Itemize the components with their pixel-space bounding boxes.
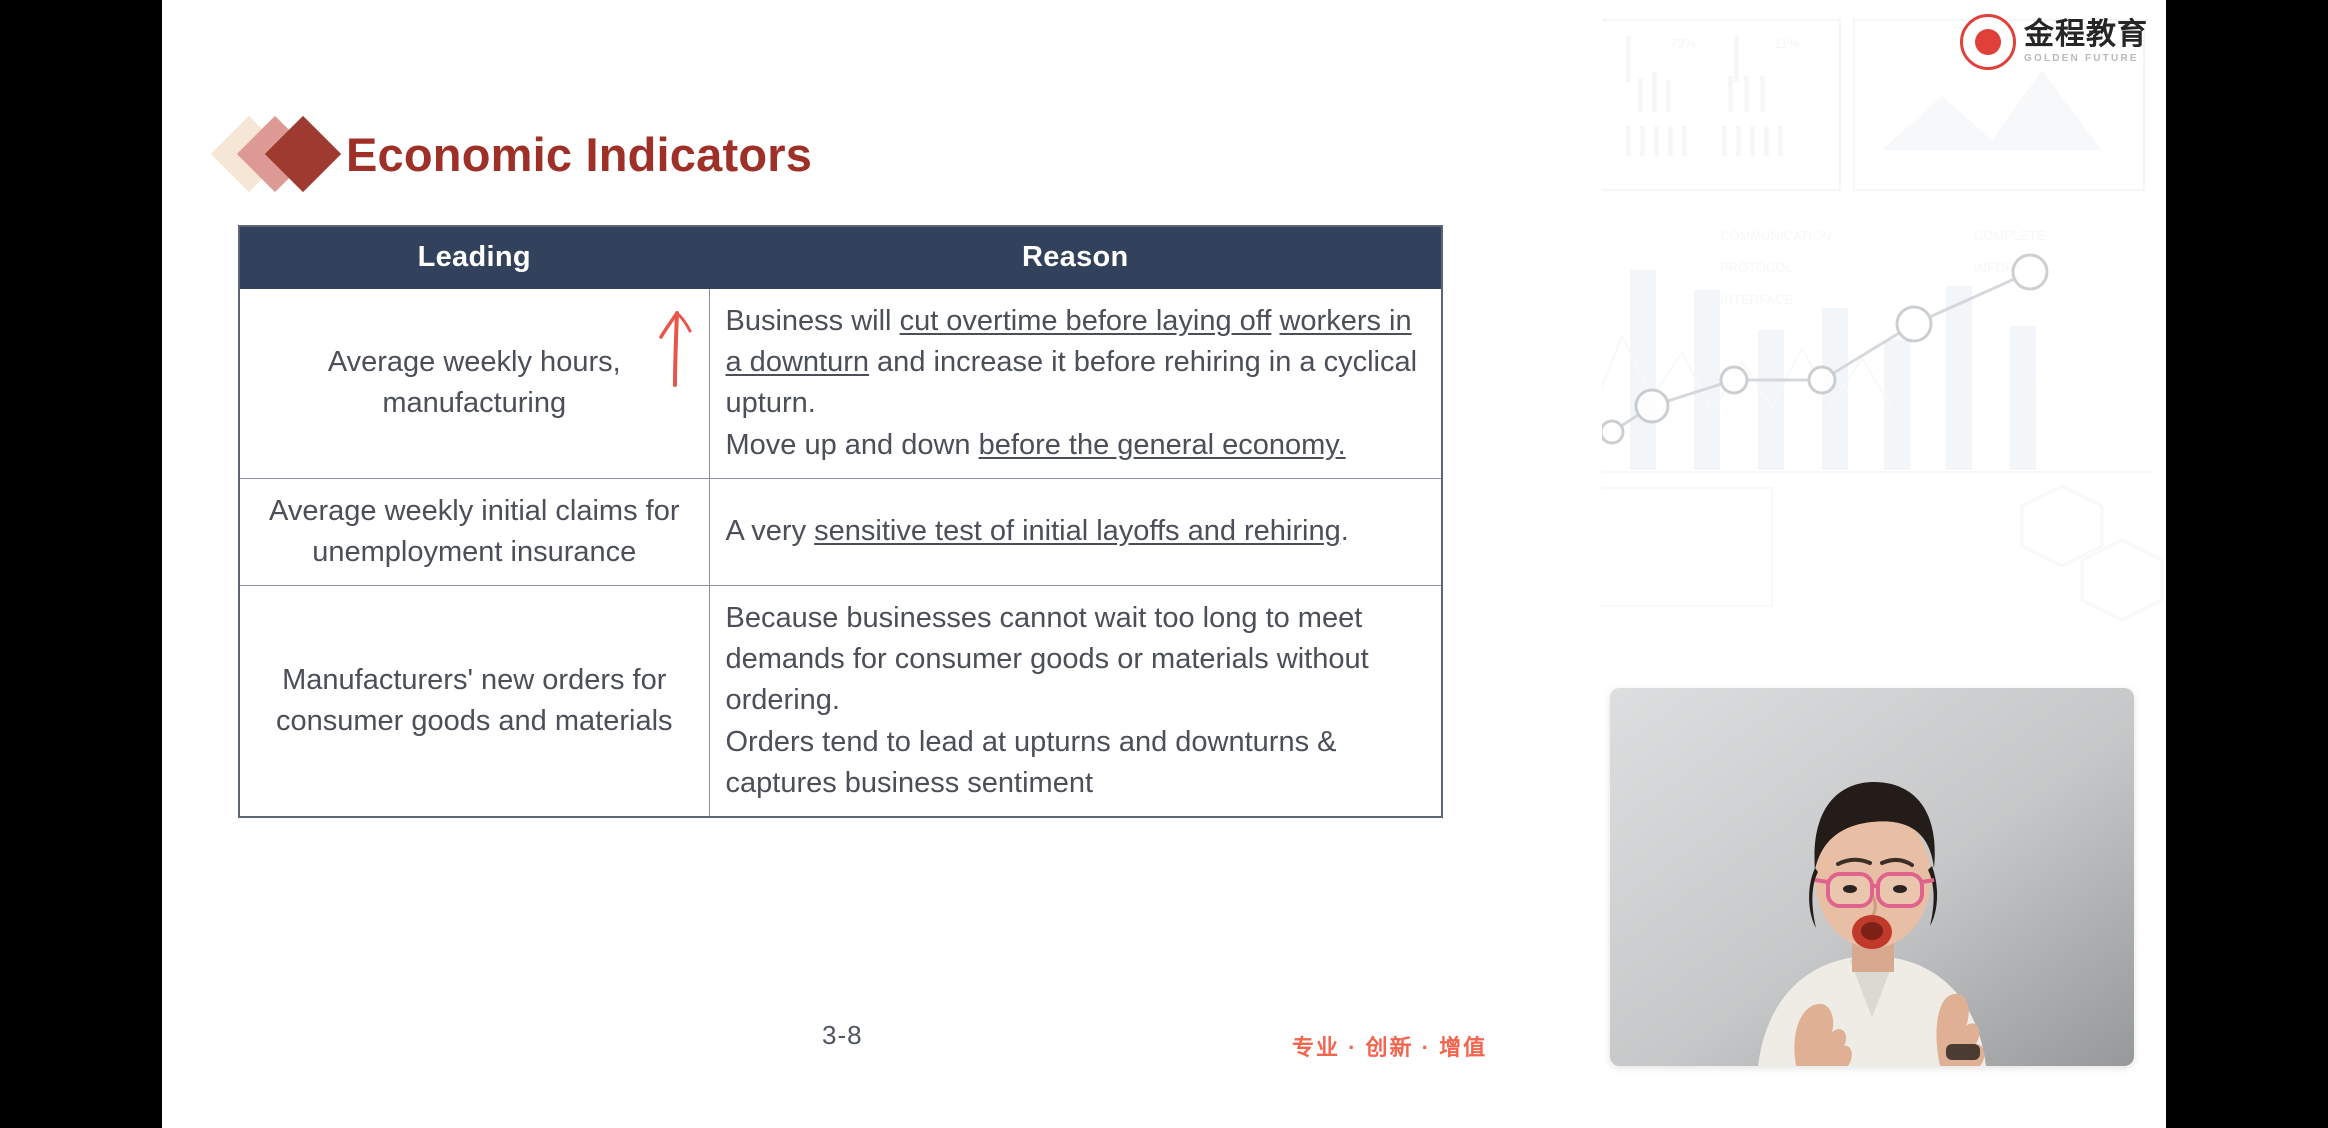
reason-plain-2b: . xyxy=(1341,515,1349,547)
brand-logo: 金程教育 GOLDEN FUTURE xyxy=(1960,14,2148,70)
svg-text:PROTOCOL: PROTOCOL xyxy=(1720,260,1793,275)
red-up-arrow-annotation-icon xyxy=(649,297,703,387)
right-decorative-panel: 47% 73% 11% xyxy=(1602,0,2166,1128)
diamond-bullet-icon xyxy=(222,118,340,190)
slide-content: Economic Indicators Leading Reason Avera… xyxy=(162,0,1602,1128)
cell-leading-3: Manufacturers' new orders for consumer g… xyxy=(239,586,709,817)
cell-reason-1: Business will cut overtime before laying… xyxy=(709,289,1442,479)
reason-paragraph-3a: Because businesses cannot wait too long … xyxy=(726,598,1426,722)
reason-paragraph-1: Business will cut overtime before laying… xyxy=(726,301,1426,425)
slide-title-row: Economic Indicators xyxy=(222,118,812,190)
indicators-table: Leading Reason Average weekly hours, man… xyxy=(238,225,1443,818)
letterbox-bar-left xyxy=(0,0,162,1128)
leading-text-1: Average weekly hours, manufacturing xyxy=(328,346,621,419)
logo-english-name: GOLDEN FUTURE xyxy=(2024,53,2148,64)
svg-text:COMPLETE: COMPLETE xyxy=(1974,228,2046,243)
reason-plain-2a: A very xyxy=(726,515,815,547)
instructor-portrait xyxy=(1610,688,2134,1066)
screen-root: Economic Indicators Leading Reason Avera… xyxy=(0,0,2328,1128)
reason-underline-1c: before the general economy. xyxy=(979,429,1346,461)
table-row: Manufacturers' new orders for consumer g… xyxy=(239,586,1442,817)
logo-chinese-name: 金程教育 xyxy=(2024,20,2148,50)
svg-text:COMMUNICATION: COMMUNICATION xyxy=(1720,228,1832,243)
reason-plain-1a: Business will xyxy=(726,305,900,337)
background-infographic-decoration: 47% 73% 11% xyxy=(1602,0,2166,700)
instructor-video-tile[interactable] xyxy=(1610,688,2134,1066)
presentation-stage: Economic Indicators Leading Reason Avera… xyxy=(162,0,2166,1128)
reason-paragraph-2: Move up and down before the general econ… xyxy=(726,425,1426,466)
cell-reason-2: A very sensitive test of initial layoffs… xyxy=(709,478,1442,585)
cell-leading-1: Average weekly hours, manufacturing xyxy=(239,289,709,479)
brand-slogan: 专业 · 创新 · 增值 xyxy=(1292,1030,1487,1062)
table-row: Average weekly hours, manufacturing Busi… xyxy=(239,289,1442,479)
column-header-leading: Leading xyxy=(239,226,709,289)
letterbox-bar-right xyxy=(2166,0,2328,1128)
table-header-row: Leading Reason xyxy=(239,226,1442,289)
page-number: 3-8 xyxy=(822,1020,863,1051)
cell-reason-3: Because businesses cannot wait too long … xyxy=(709,586,1442,817)
table-row: Average weekly initial claims for unempl… xyxy=(239,478,1442,585)
svg-text:INTERFACE: INTERFACE xyxy=(1720,292,1793,307)
column-header-reason: Reason xyxy=(709,226,1442,289)
reason-underline-1a: cut overtime before laying off xyxy=(900,305,1272,337)
reason-plain-1c: Move up and down xyxy=(726,429,979,461)
svg-text:73%: 73% xyxy=(1670,36,1696,51)
reason-paragraph-3b: Orders tend to lead at upturns and downt… xyxy=(726,722,1426,804)
reason-underline-2: sensitive test of initial layoffs and re… xyxy=(814,515,1341,547)
seal-icon xyxy=(1960,14,2016,70)
cell-leading-2: Average weekly initial claims for unempl… xyxy=(239,478,709,585)
svg-text:11%: 11% xyxy=(1774,36,1799,51)
page-title: Economic Indicators xyxy=(346,127,812,182)
